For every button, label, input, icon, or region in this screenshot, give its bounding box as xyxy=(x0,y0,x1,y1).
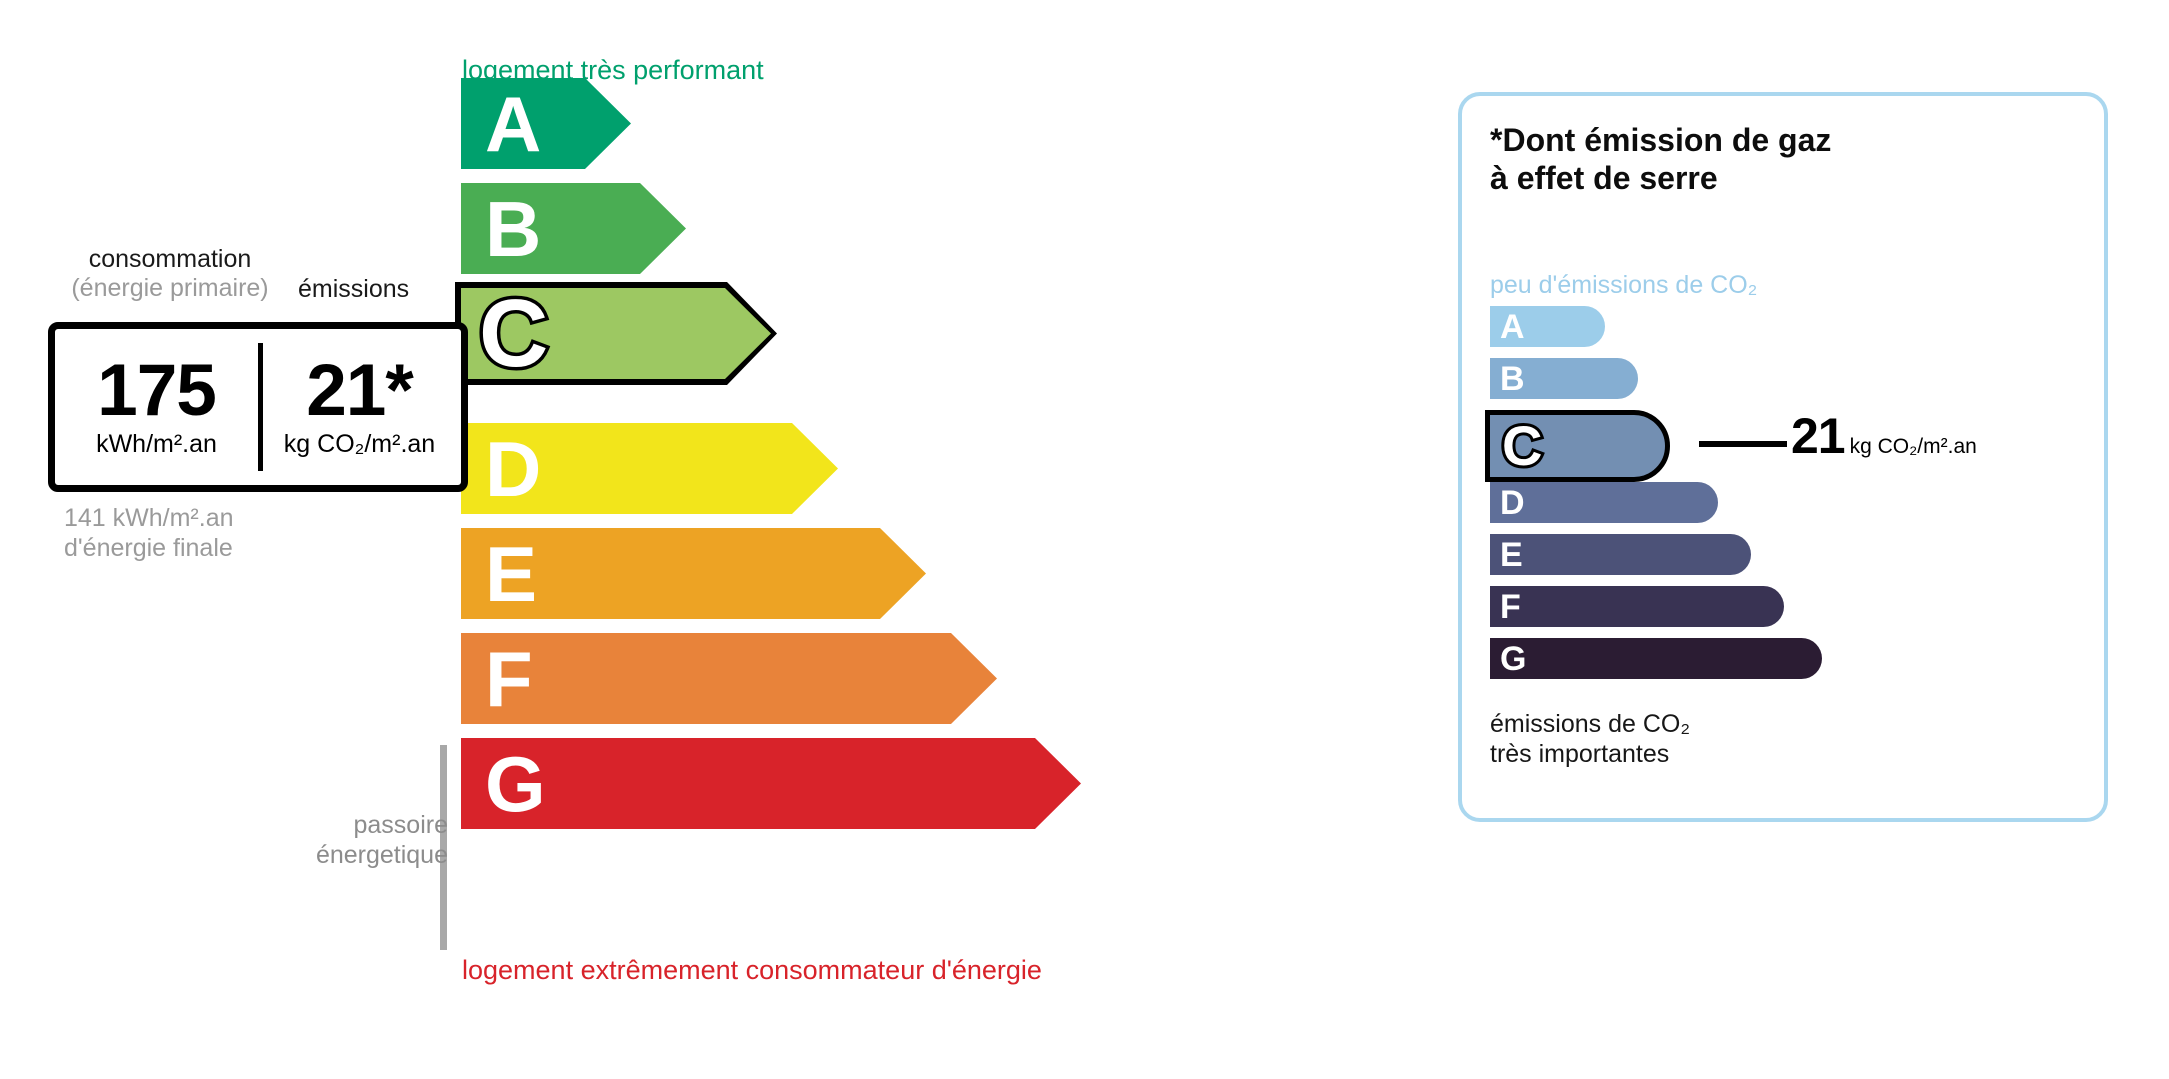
final-energy-line1: 141 kWh/m².an xyxy=(64,503,234,533)
co2-top-caption: peu d'émissions de CO₂ xyxy=(1490,271,1757,300)
co2-band-letter: A xyxy=(1500,310,1525,344)
passoire-label-line1: passoire xyxy=(190,810,448,840)
energy-band-E: E xyxy=(461,528,926,619)
energy-band-letter: A xyxy=(485,85,541,163)
energy-band-letter: D xyxy=(485,430,541,508)
co2-band-G: G xyxy=(1490,638,1822,679)
value-box: 175 kWh/m².an 21* kg CO₂/m².an xyxy=(48,322,468,492)
emissions-unit: kg CO₂/m².an xyxy=(284,430,435,459)
co2-panel-title: *Dont émission de gaz à effet de serre xyxy=(1490,122,1831,198)
co2-band-letter: B xyxy=(1500,362,1525,396)
co2-band-E: E xyxy=(1490,534,1751,575)
co2-value-unit: kg CO₂/m².an xyxy=(1850,435,1977,458)
co2-band-letter: C xyxy=(1502,418,1542,474)
passoire-label: passoire énergetique xyxy=(190,810,448,870)
emissions-header: émissions xyxy=(298,275,409,304)
final-energy-note: 141 kWh/m².an d'énergie finale xyxy=(64,503,234,563)
co2-bottom-caption-line1: émissions de CO₂ xyxy=(1490,709,1690,739)
co2-band-letter: E xyxy=(1500,538,1523,572)
co2-bottom-caption-line2: très importantes xyxy=(1490,739,1690,769)
energy-band-fill xyxy=(461,633,997,724)
co2-band-letter: D xyxy=(1500,486,1525,520)
energy-band-D: D xyxy=(461,423,838,514)
energy-band-C: C xyxy=(461,288,771,379)
emissions-value: 21* xyxy=(306,355,413,427)
co2-band-A: A xyxy=(1490,306,1605,347)
primary-energy-unit: kWh/m².an xyxy=(96,430,217,459)
co2-band-C: C xyxy=(1485,410,1670,482)
co2-band-B: B xyxy=(1490,358,1638,399)
energy-band-G: G xyxy=(461,738,1081,829)
consumption-header-main: consommation xyxy=(89,245,252,273)
energy-band-B: B xyxy=(461,183,686,274)
emissions-cell: 21* kg CO₂/m².an xyxy=(258,329,461,485)
energy-band-letter: G xyxy=(485,745,546,823)
co2-band-letter: G xyxy=(1500,642,1526,676)
consumption-header: consommation (énergie primaire) xyxy=(50,245,290,303)
co2-title-line1: *Dont émission de gaz xyxy=(1490,122,1831,160)
energy-band-fill xyxy=(461,738,1081,829)
energy-band-letter: E xyxy=(485,535,537,613)
primary-energy-cell: 175 kWh/m².an xyxy=(55,329,258,485)
co2-emissions-panel: *Dont émission de gaz à effet de serre p… xyxy=(1458,92,2108,822)
co2-band-F: F xyxy=(1490,586,1784,627)
energy-band-letter: C xyxy=(479,286,548,382)
final-energy-line2: d'énergie finale xyxy=(64,533,234,563)
co2-band-letter: F xyxy=(1500,590,1521,624)
co2-value-callout: 21kg CO₂/m².an xyxy=(1791,407,1977,465)
co2-title-line2: à effet de serre xyxy=(1490,160,1831,198)
consumption-header-sub: (énergie primaire) xyxy=(50,274,290,303)
energy-band-letter: B xyxy=(485,190,541,268)
energy-band-letter: F xyxy=(485,640,533,718)
chart-bottom-caption: logement extrêmement consommateur d'éner… xyxy=(462,955,1042,986)
primary-energy-value: 175 xyxy=(97,355,216,427)
energy-band-A: A xyxy=(461,78,631,169)
energy-band-F: F xyxy=(461,633,997,724)
co2-band-D: D xyxy=(1490,482,1718,523)
co2-bottom-caption: émissions de CO₂ très importantes xyxy=(1490,709,1690,769)
co2-leader-line xyxy=(1699,441,1787,447)
energy-performance-chart: logement très performant ABCDEFG consomm… xyxy=(0,0,1400,1079)
passoire-label-line2: énergetique xyxy=(190,840,448,870)
co2-value: 21 xyxy=(1791,408,1845,464)
